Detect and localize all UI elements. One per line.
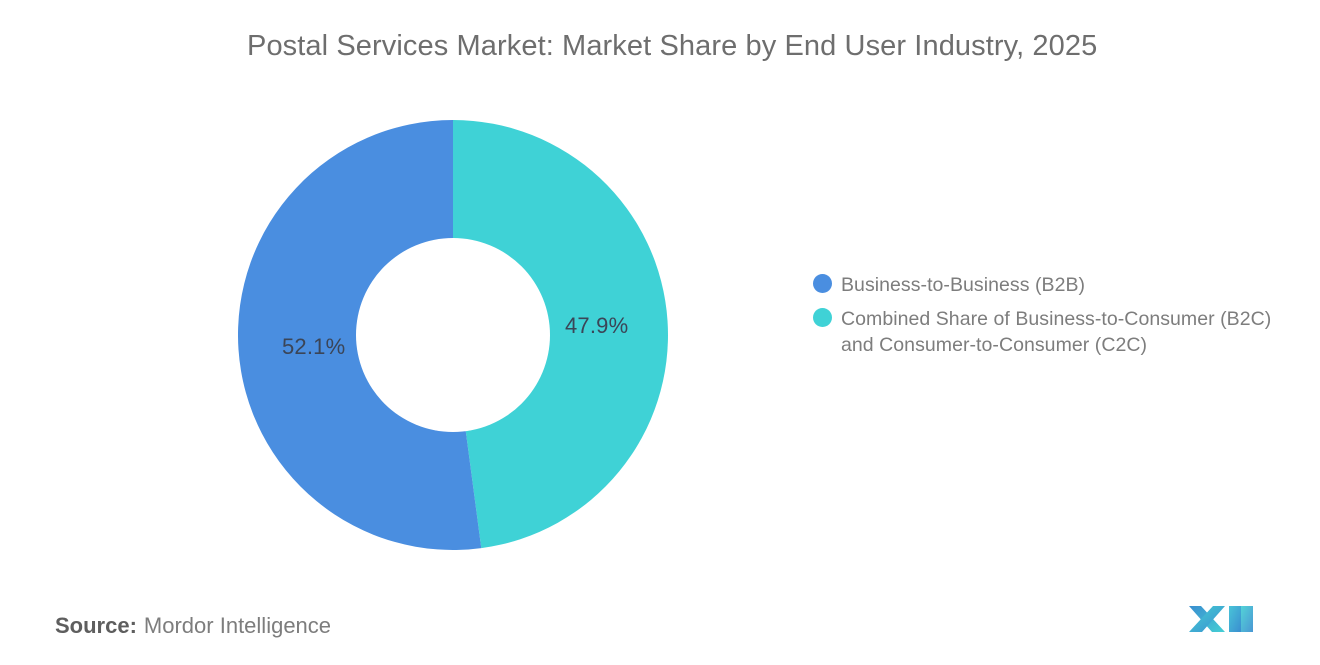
donut-center-hole <box>356 238 550 432</box>
slice-value-label-b2c: 47.9% <box>565 313 628 339</box>
source-label: Source: <box>55 613 137 638</box>
legend-item-b2c-c2c[interactable]: Combined Share of Business-to-Consumer (… <box>813 306 1283 358</box>
source-line: Source:Mordor Intelligence <box>55 613 331 639</box>
chart-legend: Business-to-Business (B2B) Combined Shar… <box>813 272 1283 366</box>
legend-item-b2b[interactable]: Business-to-Business (B2B) <box>813 272 1283 298</box>
legend-swatch-icon-b2b <box>813 274 832 293</box>
legend-label-b2b: Business-to-Business (B2B) <box>841 272 1085 298</box>
chart-title: Postal Services Market: Market Share by … <box>247 30 1247 63</box>
donut-chart: 52.1% 47.9% <box>238 120 668 550</box>
legend-swatch-icon-b2c-c2c <box>813 308 832 327</box>
logo-svg <box>1185 598 1257 638</box>
slice-value-label-b2b: 52.1% <box>282 334 345 360</box>
mordor-intelligence-logo-icon <box>1185 598 1257 638</box>
source-value: Mordor Intelligence <box>144 613 331 638</box>
legend-label-b2c-c2c: Combined Share of Business-to-Consumer (… <box>841 306 1283 358</box>
